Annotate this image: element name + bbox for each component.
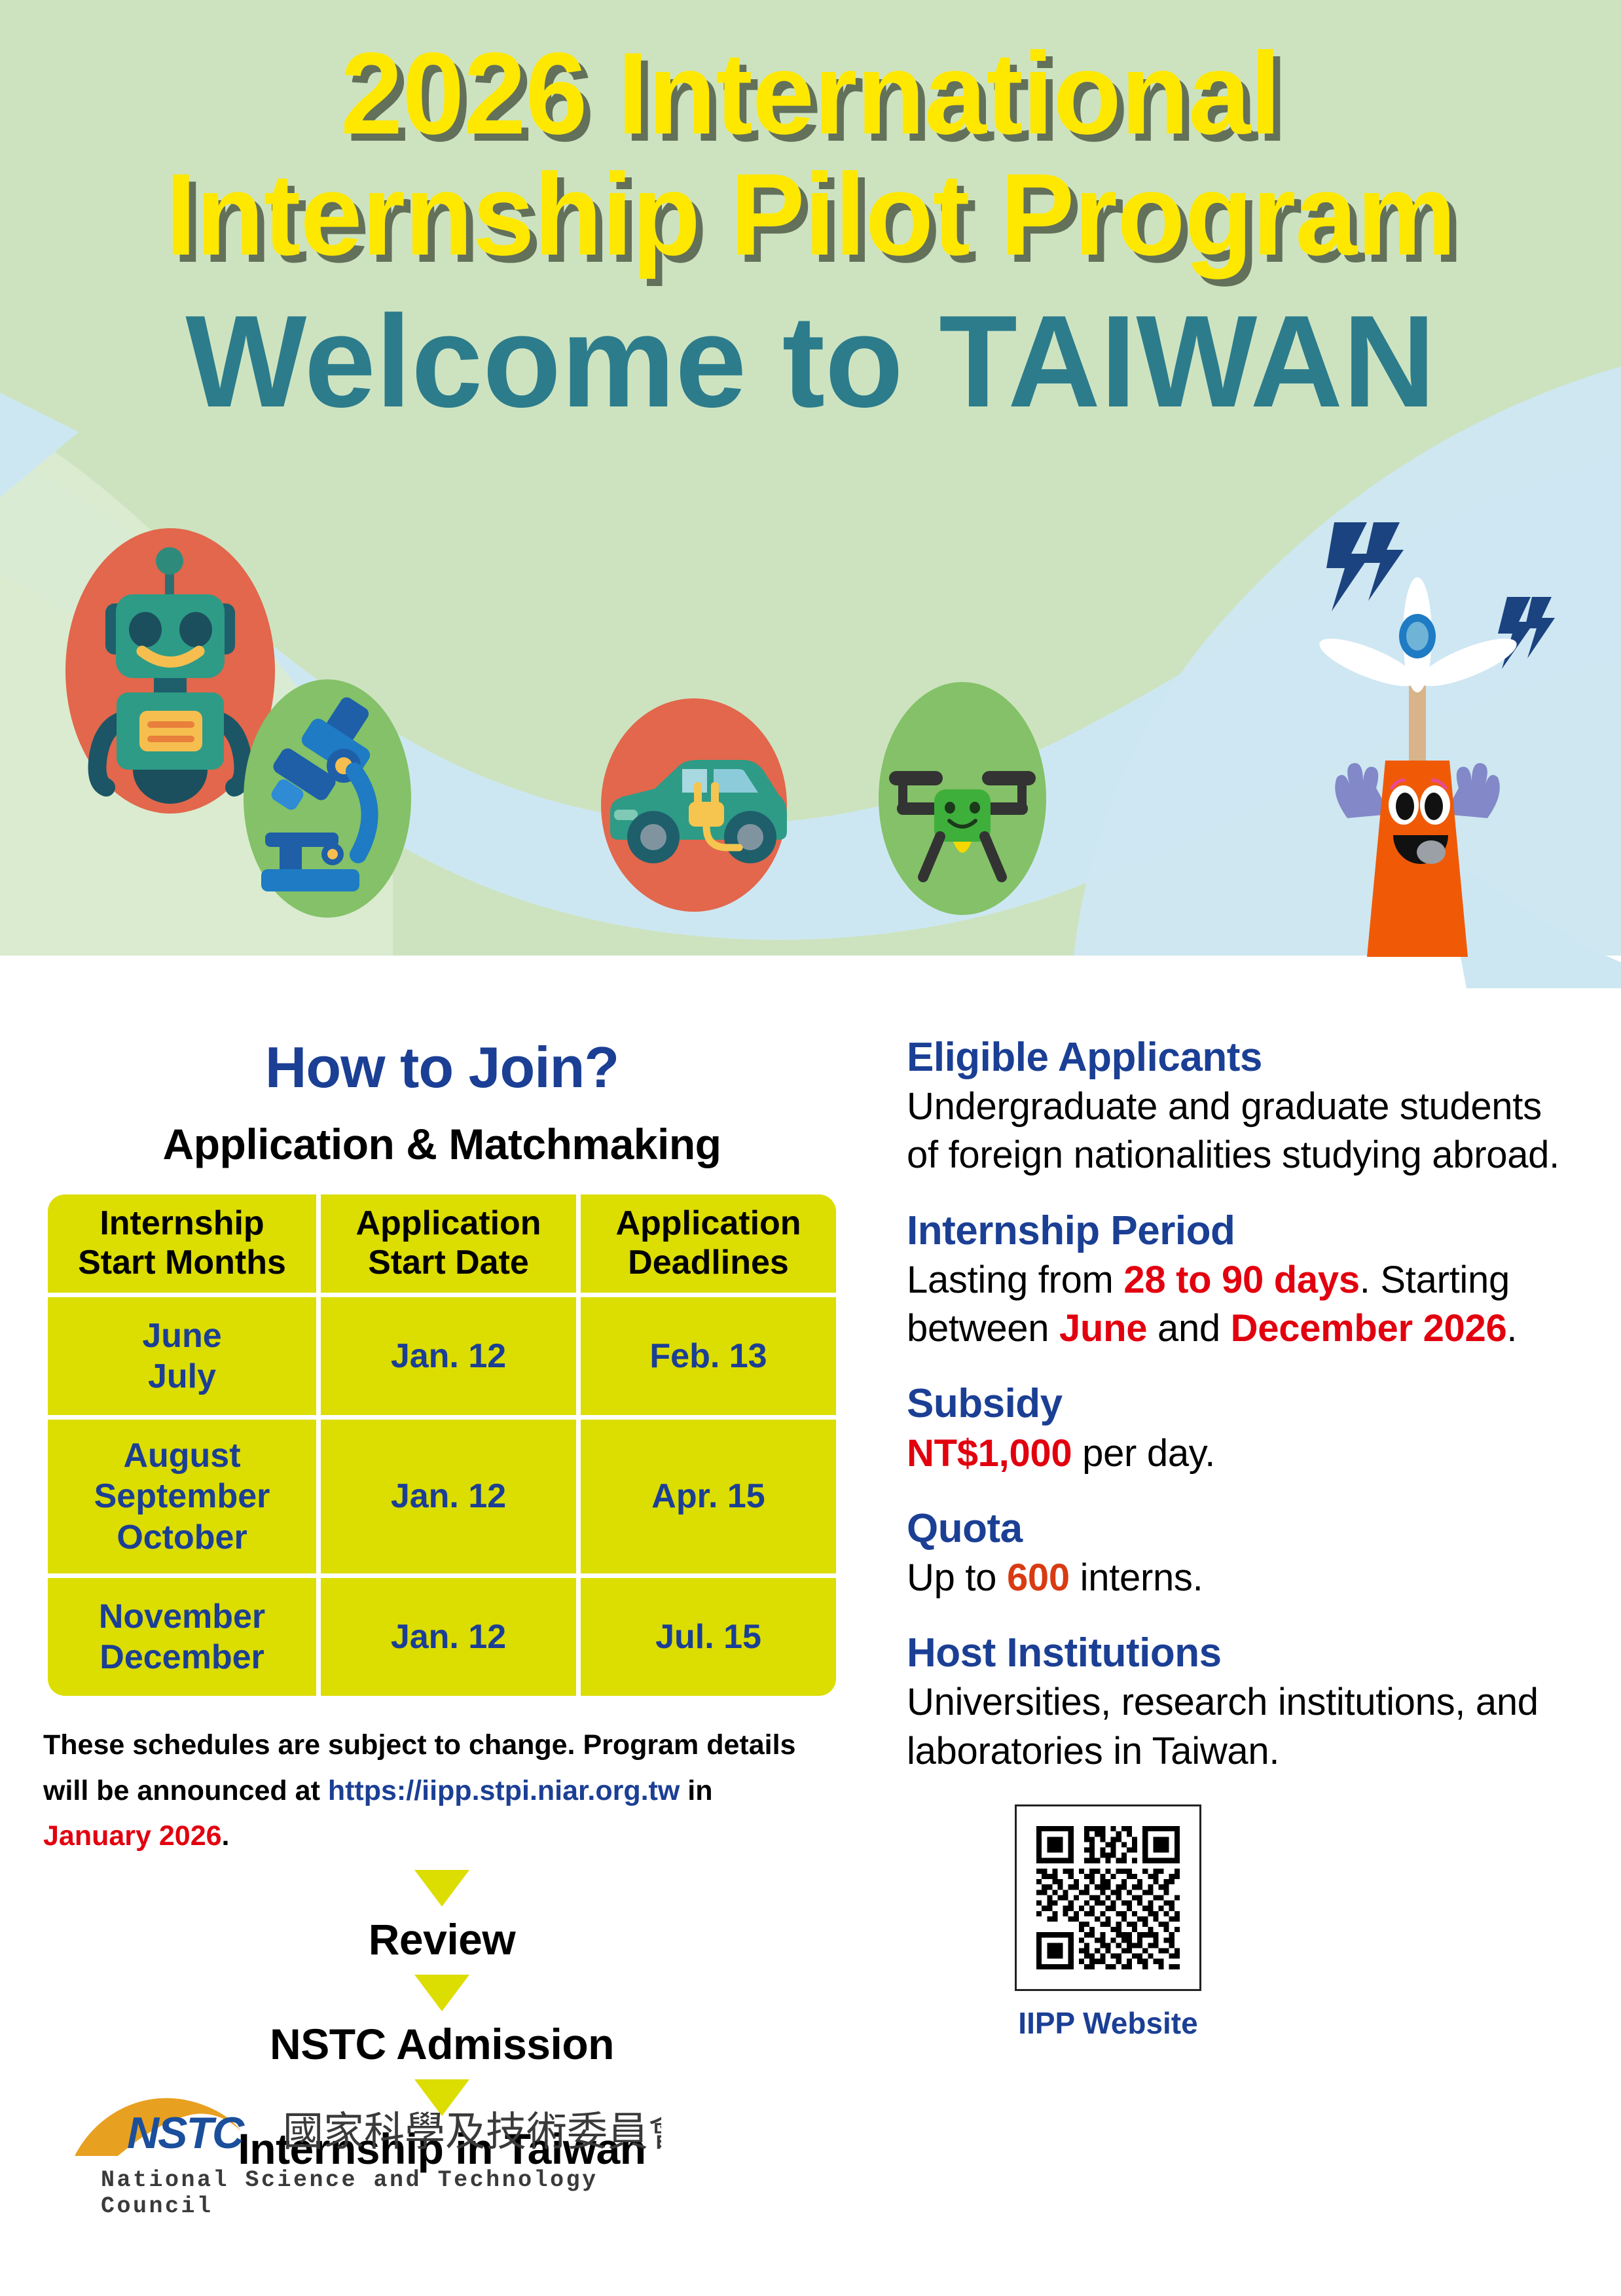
how-to-join-column: How to Join? Application & Matchmaking I… [39, 1034, 845, 2174]
body-text: interns. [1070, 1556, 1203, 1599]
header-line: Application [615, 1204, 801, 1242]
table-row: August September October Jan. 12 Apr. 15 [48, 1420, 836, 1573]
header-line: Start Date [368, 1244, 529, 1282]
section-heading: Subsidy [907, 1382, 1581, 1426]
flow-step-review: Review [39, 1914, 845, 1964]
section-eligible-applicants: Eligible Applicants Undergraduate and gr… [907, 1035, 1581, 1180]
section-body: Universities, research institutions, and… [907, 1678, 1581, 1775]
section-heading: Host Institutions [907, 1631, 1581, 1676]
cell-start-date: Jan. 12 [321, 1578, 576, 1696]
schedule-table: Internship Start Months Application Star… [43, 1190, 841, 1700]
poster-body: How to Join? Application & Matchmaking I… [0, 988, 1621, 2296]
section-body: NT$1,000 per day. [907, 1429, 1581, 1478]
header-banner: 2026 International Internship Pilot Prog… [0, 0, 1621, 988]
nstc-logo-english: National Science and Technology Council [72, 2167, 661, 2219]
qr-code-block[interactable]: IIPP Website [1015, 1804, 1581, 2041]
section-body: Up to 600 interns. [907, 1554, 1581, 1602]
month-label: November [99, 1598, 265, 1636]
body-text: and [1147, 1307, 1231, 1350]
title-line-2: Internship Pilot Program [33, 154, 1589, 275]
col-header-application-deadlines: Application Deadlines [581, 1194, 836, 1293]
table-row: November December Jan. 12 Jul. 15 [48, 1578, 836, 1696]
cell-start-date: Jan. 12 [321, 1297, 576, 1415]
body-text: . [1506, 1307, 1517, 1350]
table-row: June July Jan. 12 Feb. 13 [48, 1297, 836, 1415]
nstc-logo: NSTC 國家科學及技術委員會 National Science and Tec… [72, 2088, 661, 2219]
nstc-logo-chinese: 國家科學及技術委員會 [283, 2108, 661, 2155]
highlight-start-month: June [1059, 1307, 1147, 1350]
flow-arrow-down-icon [414, 1870, 469, 1907]
month-label: October [117, 1518, 247, 1556]
highlight-amount: NT$1,000 [907, 1432, 1072, 1475]
month-label: June [142, 1317, 221, 1355]
body-text: Up to [907, 1556, 1007, 1599]
qr-code-icon[interactable] [1031, 1821, 1185, 1975]
cell-months: August September October [48, 1420, 316, 1573]
section-quota: Quota Up to 600 interns. [907, 1507, 1581, 1602]
title-line-1: 2026 International [33, 33, 1589, 154]
highlight-end-month: December 2026 [1231, 1307, 1507, 1350]
header-line: Application [355, 1204, 541, 1242]
schedule-note: These schedules are subject to change. P… [43, 1723, 816, 1859]
program-details-column: Eligible Applicants Undergraduate and gr… [907, 1035, 1581, 2041]
note-date: January 2026 [43, 1820, 222, 1852]
section-body: Lasting from 28 to 90 days. Starting bet… [907, 1256, 1581, 1353]
cell-start-date: Jan. 12 [321, 1420, 576, 1573]
month-label: December [100, 1638, 264, 1676]
highlight-count: 600 [1007, 1556, 1070, 1599]
section-subsidy: Subsidy NT$1,000 per day. [907, 1382, 1581, 1477]
highlight-duration: 28 to 90 days [1123, 1259, 1359, 1301]
poster-title-group: 2026 International Internship Pilot Prog… [0, 33, 1621, 431]
flow-arrow-down-icon [414, 1975, 469, 2011]
month-label: August [123, 1437, 240, 1475]
svg-text:NSTC: NSTC [127, 2108, 245, 2158]
section-internship-period: Internship Period Lasting from 28 to 90 … [907, 1209, 1581, 1354]
cell-months: November December [48, 1578, 316, 1696]
col-header-internship-start-months: Internship Start Months [48, 1194, 316, 1293]
wind-turbine-mascot [1257, 517, 1571, 962]
cell-deadline: Apr. 15 [581, 1420, 836, 1573]
section-body: Undergraduate and graduate students of f… [907, 1083, 1581, 1179]
month-label: July [148, 1357, 216, 1395]
cell-months: June July [48, 1297, 316, 1415]
month-label: September [94, 1477, 270, 1515]
cell-deadline: Feb. 13 [581, 1297, 836, 1415]
microscope-icon [239, 674, 416, 923]
body-text: per day. [1072, 1432, 1215, 1475]
iipp-url-link[interactable]: https://iipp.stpi.niar.org.tw [328, 1775, 680, 1806]
table-header-row: Internship Start Months Application Star… [48, 1194, 836, 1293]
section-heading: Eligible Applicants [907, 1035, 1581, 1080]
section-heading: Internship Period [907, 1209, 1581, 1253]
flow-step-nstc-admission: NSTC Admission [39, 2019, 845, 2069]
col-header-application-start-date: Application Start Date [321, 1194, 576, 1293]
body-text: Lasting from [907, 1259, 1123, 1301]
note-part2: in [680, 1775, 712, 1806]
qr-code-label: IIPP Website [1015, 2005, 1201, 2041]
header-line: Start Months [78, 1244, 286, 1282]
drone-icon [864, 674, 1061, 923]
electric-car-icon [583, 697, 805, 913]
header-line: Deadlines [628, 1244, 789, 1282]
section-heading: Quota [907, 1507, 1581, 1551]
how-to-join-heading: How to Join? [39, 1034, 845, 1101]
welcome-headline: Welcome to TAIWAN [16, 293, 1605, 431]
header-line: Internship [100, 1204, 264, 1242]
nstc-logo-mark: NSTC 國家科學及技術委員會 [72, 2088, 661, 2166]
qr-code-frame[interactable] [1015, 1804, 1201, 1991]
note-part3: . [222, 1820, 230, 1852]
application-matchmaking-subheading: Application & Matchmaking [39, 1119, 845, 1169]
section-host-institutions: Host Institutions Universities, research… [907, 1631, 1581, 1776]
cell-deadline: Jul. 15 [581, 1578, 836, 1696]
